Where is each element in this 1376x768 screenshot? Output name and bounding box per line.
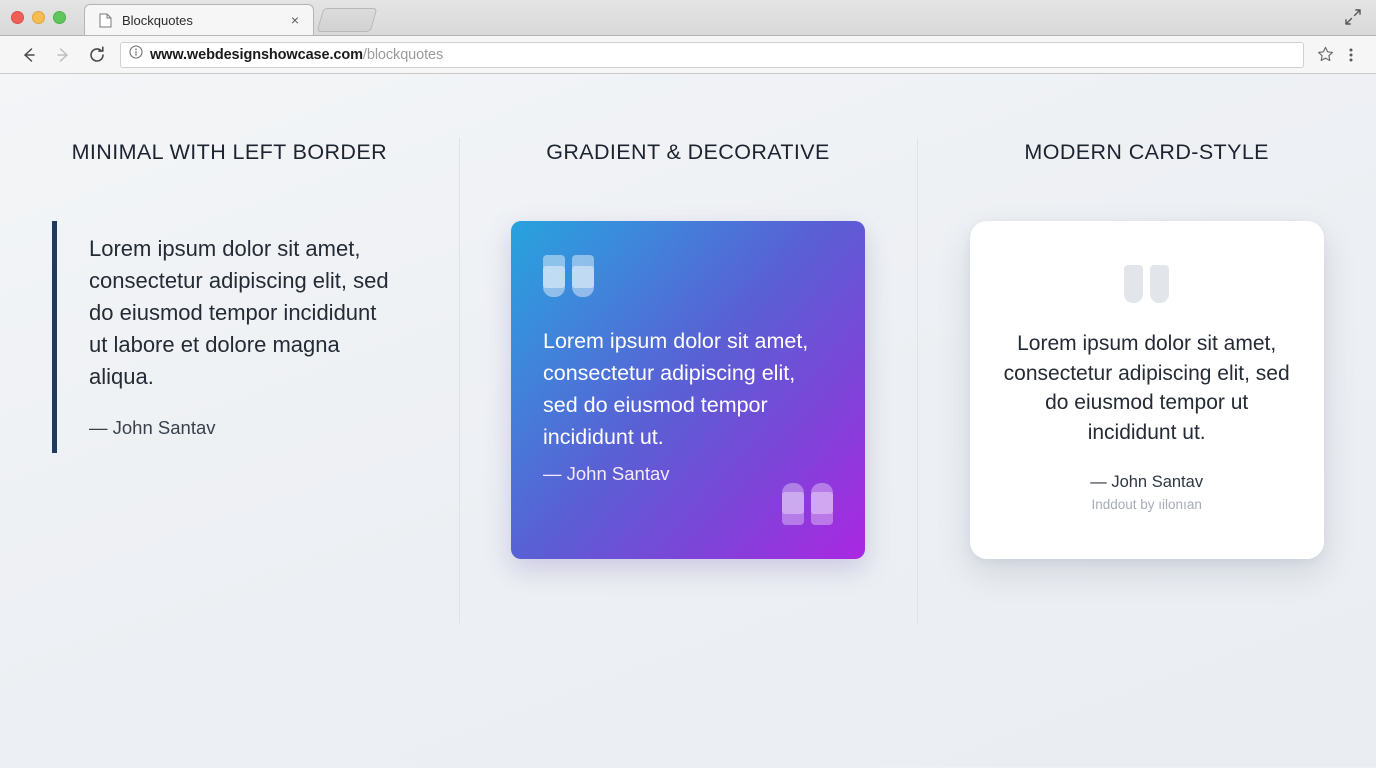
minimize-window-button[interactable] (32, 11, 45, 24)
quote-author-card: — John Santav (1090, 473, 1203, 492)
star-icon[interactable] (1312, 42, 1338, 68)
url-path: /blockquotes (363, 47, 443, 63)
column-title-gradient: GRADIENT & DECORATIVE (459, 140, 918, 165)
window-controls (11, 11, 66, 24)
tab-blockquotes[interactable]: Blockquotes × (84, 4, 314, 35)
open-quote-icon (1124, 265, 1170, 303)
page-viewport: MINIMAL WITH LEFT BORDER Lorem ipsum dol… (0, 74, 1376, 767)
quote-text-minimal: Lorem ipsum dolor sit amet, consectetur … (89, 233, 389, 393)
gradient-quote-body: Lorem ipsum dolor sit amet, consectetur … (459, 221, 918, 559)
blockquote-gradient: Lorem ipsum dolor sit amet, consectetur … (511, 221, 865, 559)
blockquote-minimal: Lorem ipsum dolor sit amet, consectetur … (52, 221, 419, 453)
column-modern-card-style: MODERN CARD-STYLE Lorem ipsum dolor sit … (917, 74, 1376, 767)
tab-strip: Blockquotes × (84, 0, 374, 35)
quote-text-card: Lorem ipsum dolor sit amet, consectetur … (1002, 329, 1292, 447)
zoom-window-button[interactable] (53, 11, 66, 24)
column-title-minimal: MINIMAL WITH LEFT BORDER (0, 140, 459, 165)
blockquote-card: Lorem ipsum dolor sit amet, consectetur … (970, 221, 1324, 559)
showcase-columns: MINIMAL WITH LEFT BORDER Lorem ipsum dol… (0, 74, 1376, 767)
quote-text-gradient: Lorem ipsum dolor sit amet, consectetur … (543, 325, 831, 453)
quote-author-minimal: — John Santav (89, 417, 419, 439)
title-bar: Blockquotes × (0, 0, 1376, 36)
browser-toolbar: www.webdesignshowcase.com/blockquotes (0, 36, 1376, 74)
close-icon[interactable]: × (287, 12, 303, 28)
back-arrow-icon[interactable] (12, 40, 46, 70)
new-tab-button[interactable] (317, 8, 378, 32)
close-quote-icon (781, 483, 833, 525)
column-minimal-left-border: MINIMAL WITH LEFT BORDER Lorem ipsum dol… (0, 74, 459, 767)
close-window-button[interactable] (11, 11, 24, 24)
url-text: www.webdesignshowcase.com/blockquotes (150, 47, 443, 63)
reload-icon[interactable] (80, 40, 114, 70)
card-quote-body: Lorem ipsum dolor sit amet, consectetur … (917, 221, 1376, 559)
url-domain: www.webdesignshowcase.com (150, 47, 363, 63)
forward-arrow-icon[interactable] (46, 40, 80, 70)
minimal-quote-body: Lorem ipsum dolor sit amet, consectetur … (0, 221, 459, 453)
quote-subtitle-card: Inddout by ıilonıan (1092, 497, 1202, 512)
expand-arrows-icon[interactable] (1344, 8, 1364, 28)
browser-window: Blockquotes × (0, 0, 1376, 768)
quote-author-gradient: — John Santav (543, 463, 670, 485)
page-icon (99, 13, 112, 28)
column-title-card: MODERN CARD-STYLE (917, 140, 1376, 165)
address-bar[interactable]: www.webdesignshowcase.com/blockquotes (120, 42, 1304, 68)
kebab-menu-icon[interactable] (1338, 42, 1364, 68)
column-gradient-decorative: GRADIENT & DECORATIVE Lorem ipsum dolor … (459, 74, 918, 767)
tab-title: Blockquotes (122, 13, 287, 28)
info-circle-icon[interactable] (129, 45, 143, 64)
open-quote-icon (543, 255, 595, 297)
